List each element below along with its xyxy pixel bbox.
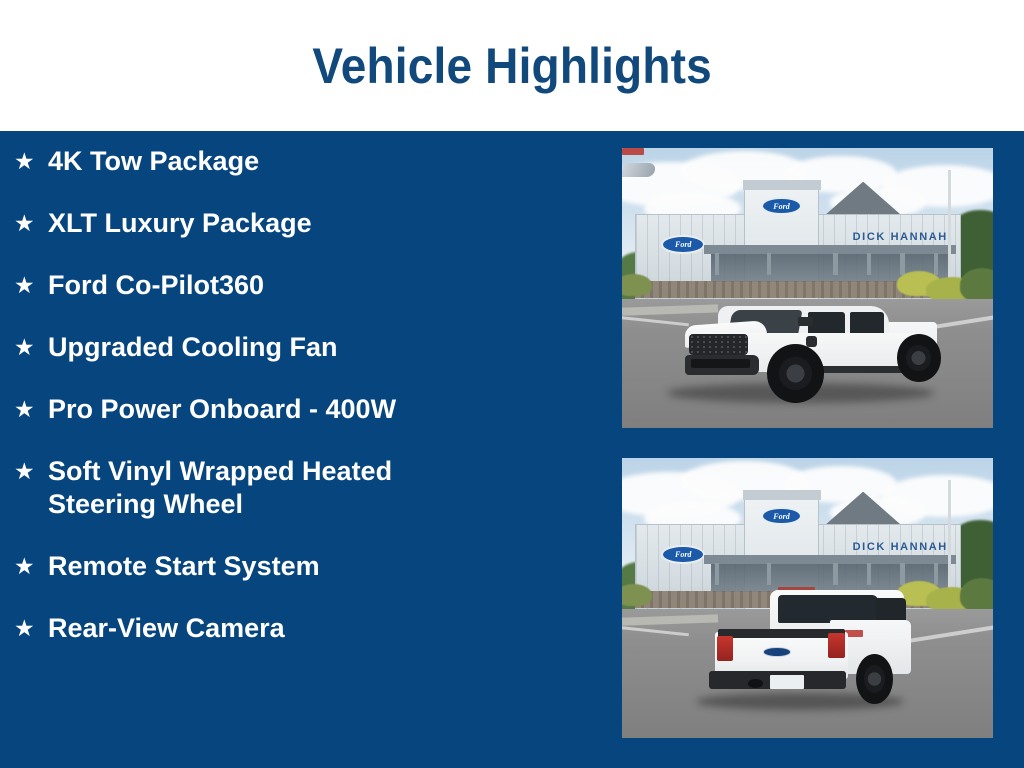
list-item: ★ Pro Power Onboard - 400W: [0, 393, 600, 426]
trailer-hitch: [748, 679, 763, 687]
canopy-column: [715, 253, 719, 275]
license-plate: [770, 675, 803, 689]
side-mirror: [798, 317, 813, 325]
entry-canopy: [704, 245, 956, 254]
canopy-column: [833, 253, 837, 275]
star-bullet-icon: ★: [12, 145, 48, 178]
fx4-badge: [622, 148, 644, 155]
slide-root: Vehicle Highlights ★ 4K Tow Package ★ XL…: [0, 0, 1024, 768]
star-bullet-icon: ★: [12, 331, 48, 364]
lower-air-intake: [691, 359, 750, 367]
canopy-column: [767, 563, 771, 585]
list-item: ★ XLT Luxury Package: [0, 207, 600, 240]
highlight-label: Ford Co-Pilot360: [48, 269, 264, 302]
dealership-scene: Ford Ford DICK HANNAH: [622, 458, 993, 738]
ford-logo-text: Ford: [773, 512, 789, 521]
highlight-label: Soft Vinyl Wrapped Heated Steering Wheel: [48, 455, 498, 521]
star-bullet-icon: ★: [12, 612, 48, 645]
star-bullet-icon: ★: [12, 269, 48, 302]
highlight-label: Rear-View Camera: [48, 612, 285, 645]
highlight-label: Upgraded Cooling Fan: [48, 331, 338, 364]
slide-header: Vehicle Highlights: [0, 0, 1024, 131]
canopy-column: [767, 253, 771, 275]
rear-window: [778, 595, 878, 623]
star-bullet-icon: ★: [12, 550, 48, 583]
tower-cap: [743, 490, 821, 500]
ford-emblem-icon: [763, 647, 791, 657]
tailgate-top-cap: [718, 629, 844, 638]
rear-wheel: [897, 334, 942, 382]
canopy-column: [900, 563, 904, 585]
rear-wheel: [856, 654, 893, 704]
page-title: Vehicle Highlights: [312, 37, 712, 95]
fender-vent: [806, 336, 817, 347]
canopy-column: [867, 563, 871, 585]
canopy-column: [715, 563, 719, 585]
ford-logo-text: Ford: [773, 202, 789, 211]
entry-canopy: [704, 555, 956, 564]
dealership-scene: Ford Ford DICK HANNAH: [622, 148, 993, 428]
canopy-column: [867, 253, 871, 275]
list-item: ★ Remote Start System: [0, 550, 600, 583]
ford-logo-text: Ford: [675, 240, 691, 249]
shrub: [960, 578, 993, 612]
left-tail-light: [717, 636, 734, 661]
star-bullet-icon: ★: [12, 455, 48, 488]
highlight-label: Pro Power Onboard - 400W: [48, 393, 396, 426]
ford-logo-text: Ford: [675, 550, 691, 559]
shrub: [622, 584, 652, 606]
headlight: [622, 163, 657, 177]
front-grille: [689, 334, 748, 355]
right-tail-light: [828, 633, 845, 658]
star-bullet-icon: ★: [12, 393, 48, 426]
highlight-label: Remote Start System: [48, 550, 320, 583]
shrub: [960, 268, 993, 302]
canopy-column: [900, 253, 904, 275]
canopy-column: [833, 563, 837, 585]
vehicle-photo-front[interactable]: Ford Ford DICK HANNAH: [622, 148, 993, 428]
wheel-rim: [864, 665, 885, 693]
ford-logo-icon: Ford: [761, 507, 802, 525]
canopy-column: [934, 253, 938, 275]
list-item: ★ Soft Vinyl Wrapped Heated Steering Whe…: [0, 455, 600, 521]
star-bullet-icon: ★: [12, 207, 48, 240]
list-item: ★ Ford Co-Pilot360: [0, 269, 600, 302]
tower-cap: [743, 180, 821, 190]
vehicle-photo-rear[interactable]: Ford Ford DICK HANNAH: [622, 458, 993, 738]
list-item: ★ 4K Tow Package: [0, 145, 600, 178]
dealer-sign-text: DICK HANNAH: [845, 231, 956, 243]
highlight-label: XLT Luxury Package: [48, 207, 312, 240]
grille-mesh: [690, 335, 747, 354]
list-item: ★ Rear-View Camera: [0, 612, 600, 645]
canopy-column: [934, 563, 938, 585]
list-item: ★ Upgraded Cooling Fan: [0, 331, 600, 364]
wheel-rim: [906, 345, 931, 372]
highlight-label: 4K Tow Package: [48, 145, 259, 178]
shrub: [622, 274, 652, 296]
wheel-rim: [779, 357, 811, 390]
front-wheel: [767, 344, 825, 403]
vehicle-highlights-list: ★ 4K Tow Package ★ XLT Luxury Package ★ …: [0, 145, 600, 674]
dealer-sign-text: DICK HANNAH: [845, 541, 956, 553]
ford-logo-icon: Ford: [761, 197, 802, 215]
